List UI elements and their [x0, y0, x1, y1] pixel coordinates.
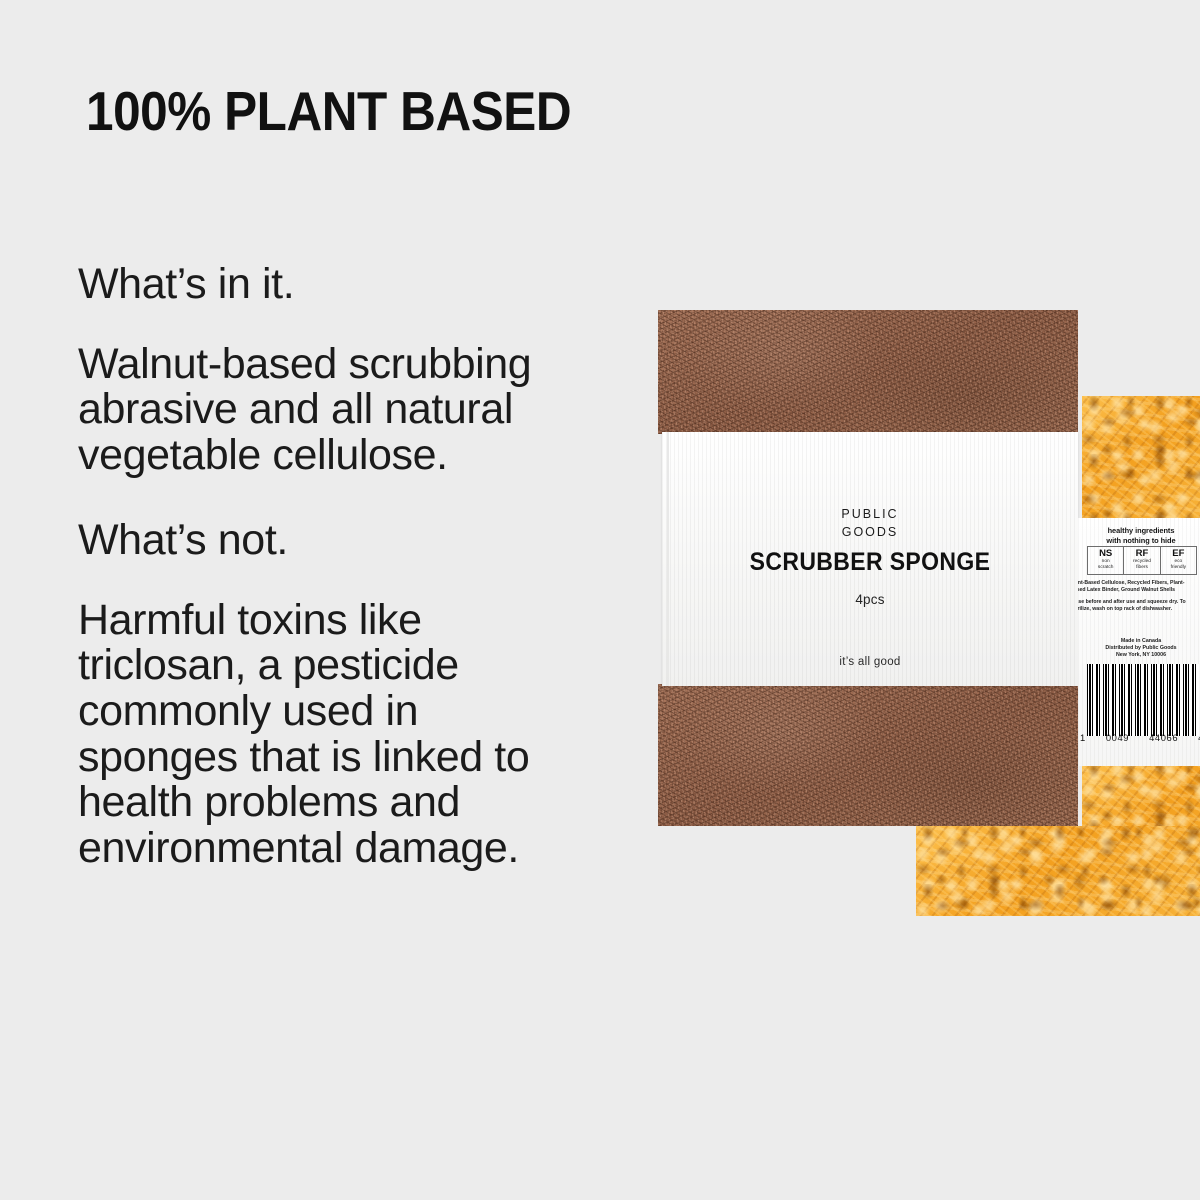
back-headline-line-1: healthy ingredients: [1078, 526, 1200, 536]
brand-line-2: GOODS: [662, 524, 1078, 542]
claim-text-line-2: friendly: [1171, 565, 1186, 570]
barcode-digit-group-1: 1: [1080, 732, 1086, 743]
barcode-digit-group-3: 44066: [1149, 732, 1178, 743]
claim-badge-rf: RF recycled fibers: [1124, 547, 1160, 574]
back-label-headline: healthy ingredients with nothing to hide: [1078, 526, 1200, 545]
origin-line-1: Made in Canada: [1078, 638, 1200, 645]
brand-logo: PUBLIC GOODS: [662, 506, 1078, 542]
ingredients-text: Plant-Based Cellulose, Recycled Fibers, …: [1078, 580, 1200, 594]
claim-badge-ef: EF eco friendly: [1161, 547, 1196, 574]
origin-line-3: New York, NY 10006: [1078, 652, 1200, 659]
claim-text-line-2: scratch: [1098, 565, 1113, 570]
product-quantity: 4pcs: [662, 592, 1078, 607]
barcode-digit-group-2: 0049: [1106, 732, 1129, 743]
cellulose-sponge-top: [1082, 396, 1200, 518]
claim-text-line-1: non: [1102, 559, 1110, 564]
claim-text: non scratch: [1088, 559, 1123, 571]
origin-line-2: Distributed by Public Goods: [1078, 645, 1200, 652]
product-marketing-image: 100% PLANT BASED What’s in it. Walnut-ba…: [0, 0, 1200, 1200]
barcode-bars: [1087, 664, 1199, 736]
product-name: SCRUBBER SPONGE: [679, 548, 1062, 577]
claim-text-line-1: eco: [1174, 559, 1182, 564]
brand-tagline: it’s all good: [662, 656, 1078, 668]
origin-block: Made in Canada Distributed by Public Goo…: [1078, 638, 1200, 659]
claim-badge-ns: NS non scratch: [1088, 547, 1124, 574]
barcode-digits: 1 0049 44066 4: [1080, 732, 1200, 743]
claim-text-line-2: fibers: [1136, 565, 1148, 570]
claim-abbr: NS: [1088, 549, 1123, 559]
care-instructions-text: Rinse before and after use and squeeze d…: [1078, 599, 1200, 613]
claim-text: recycled fibers: [1124, 559, 1159, 571]
claim-abbr: EF: [1161, 549, 1196, 559]
back-headline-line-2: with nothing to hide: [1078, 536, 1200, 546]
product-photo: PUBLIC GOODS SCRUBBER SPONGE 4pcs it’s a…: [0, 0, 1200, 1200]
front-label: PUBLIC GOODS SCRUBBER SPONGE 4pcs it’s a…: [662, 432, 1078, 686]
claim-text-line-1: recycled: [1133, 559, 1151, 564]
claim-text: eco friendly: [1161, 559, 1196, 571]
brand-line-1: PUBLIC: [662, 506, 1078, 524]
back-label: healthy ingredients with nothing to hide…: [1078, 518, 1200, 766]
claims-row: NS non scratch RF recycled fibers EF: [1087, 546, 1197, 575]
cellulose-sponge-bottom: [916, 826, 1200, 916]
walnut-scrubber-pad-bottom: [658, 684, 1078, 826]
walnut-scrubber-pad-top: [658, 310, 1078, 434]
claim-abbr: RF: [1124, 549, 1159, 559]
